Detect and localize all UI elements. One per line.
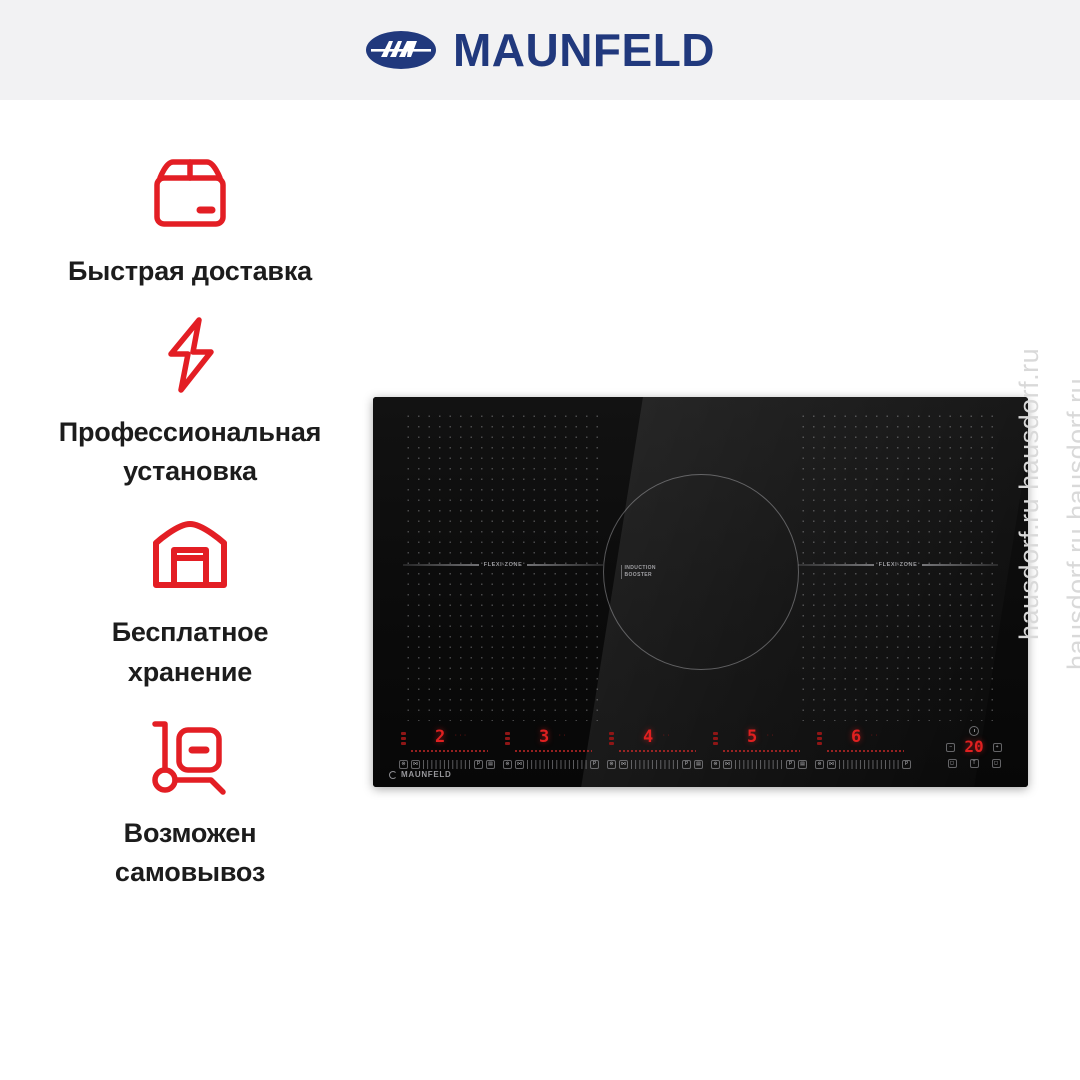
zone-level-digit: 3 xyxy=(539,729,549,746)
zone-control-3[interactable]: 4 ·· ⊜ ⋈ P ▤ xyxy=(603,729,707,773)
feature-label-installation: Профессиональнаяустановка xyxy=(0,413,380,491)
feature-item-pickup: Возможенсамовывоз xyxy=(0,712,380,892)
hand-truck-icon xyxy=(0,712,380,800)
zone-level-dots: ··· xyxy=(454,732,468,739)
page-root: MAUNFELD Быстрая доставка Профессиона xyxy=(0,0,1080,1080)
zone-level-dots: ·· xyxy=(870,732,879,739)
zone-level-bars-icon xyxy=(817,732,822,745)
pause-icon[interactable]: ⊜ xyxy=(503,760,512,769)
power-boost-icon[interactable]: P xyxy=(474,760,483,769)
booster-label-line1: INDUCTION xyxy=(625,565,656,572)
watermark-right-inner: hausdorf.ru hausdorf.ru xyxy=(1014,348,1045,640)
flexi-zone-right-label: FLEXI-ZONE xyxy=(879,562,918,568)
zone-progress-dots xyxy=(514,749,592,753)
timer-value: 20 xyxy=(964,739,983,755)
zone-control-4[interactable]: 5 ·· ⊜ ⋈ P ▤ xyxy=(707,729,811,773)
feature-label-pickup: Возможенсамовывоз xyxy=(0,814,380,892)
pause-icon[interactable]: ⊜ xyxy=(607,760,616,769)
flexi-zone-right: FLEXI-ZONE xyxy=(798,411,998,721)
induction-cooktop-image: FLEXI-ZONE FLEXI-ZONE INDUCTION BOOSTER xyxy=(373,397,1028,787)
power-boost-icon[interactable]: P xyxy=(682,760,691,769)
zone-slider[interactable]: ⊜ ⋈ P xyxy=(815,759,911,770)
feature-label-storage: Бесплатноехранение xyxy=(0,613,380,691)
watermark-right-outer: hausdorf.ru hausdorf.ru xyxy=(1062,378,1080,670)
maunfeld-oval-emblem-icon xyxy=(365,29,437,71)
cooktop-brand-text: MAUNFELD xyxy=(401,770,451,779)
zone-level-bars-icon xyxy=(401,732,406,745)
timer-controls[interactable]: − 20 + ◻ T ◻ xyxy=(934,725,1014,783)
brand-logo: MAUNFELD xyxy=(365,27,715,73)
zone-progress-dots xyxy=(618,749,696,753)
flexi-zone-right-divider: FLEXI-ZONE xyxy=(798,562,998,568)
flexi-zone-left-label: FLEXI-ZONE xyxy=(484,562,523,568)
timer-value-row: − 20 + xyxy=(934,739,1014,755)
timer-button-row: ◻ T ◻ xyxy=(934,759,1014,768)
zone-progress-dots xyxy=(722,749,800,753)
brand-wordmark: MAUNFELD xyxy=(453,27,715,73)
zone-level-dots: ·· xyxy=(558,732,567,739)
zone-level-dots: ·· xyxy=(766,732,775,739)
flexi-zone-left-divider: FLEXI-ZONE xyxy=(403,562,603,568)
zone-control-1[interactable]: 2 ··· ⊜ ⋈ P ▤ xyxy=(395,729,499,773)
divider-line-left xyxy=(798,564,874,566)
timer-button-1[interactable]: ◻ xyxy=(948,759,957,768)
zone-level-bars-icon xyxy=(609,732,614,745)
pause-icon[interactable]: ⊜ xyxy=(399,760,408,769)
zone-level-digit: 2 xyxy=(435,729,445,746)
slider-track[interactable] xyxy=(527,760,587,769)
booster-tick-mark xyxy=(621,565,622,579)
zone-slider[interactable]: ⊜ ⋈ P ▤ xyxy=(607,759,703,770)
warehouse-icon xyxy=(0,511,380,599)
slider-track[interactable] xyxy=(423,760,471,769)
cooking-zone-controls: 2 ··· ⊜ ⋈ P ▤ 3 ·· xyxy=(395,729,915,773)
timer-plus-button[interactable]: + xyxy=(993,743,1002,752)
power-boost-icon[interactable]: P xyxy=(902,760,911,769)
zone-progress-dots xyxy=(410,749,488,753)
lock-icon[interactable]: ▤ xyxy=(798,760,807,769)
pan-detect-icon[interactable]: ⋈ xyxy=(827,760,836,769)
feature-item-delivery: Быстрая доставка xyxy=(0,150,380,291)
slider-track[interactable] xyxy=(631,760,679,769)
zone-slider[interactable]: ⊜ ⋈ P xyxy=(503,759,599,770)
maunfeld-circle-icon xyxy=(389,771,397,779)
pan-detect-icon[interactable]: ⋈ xyxy=(515,760,524,769)
control-panel: 2 ··· ⊜ ⋈ P ▤ 3 ·· xyxy=(373,725,1028,787)
zone-control-2[interactable]: 3 ·· ⊜ ⋈ P xyxy=(499,729,603,773)
cooktop-brandmark: MAUNFELD xyxy=(389,770,451,779)
power-boost-icon[interactable]: P xyxy=(590,760,599,769)
zone-level-digit: 6 xyxy=(851,729,861,746)
feature-label-delivery: Быстрая доставка xyxy=(0,252,380,291)
pan-detect-icon[interactable]: ⋈ xyxy=(411,760,420,769)
slider-track[interactable] xyxy=(735,760,783,769)
power-boost-icon[interactable]: P xyxy=(786,760,795,769)
zone-level-dots: ·· xyxy=(662,732,671,739)
zone-slider[interactable]: ⊜ ⋈ P ▤ xyxy=(399,759,495,770)
features-list: Быстрая доставка Профессиональнаяустанов… xyxy=(0,150,380,912)
timer-button-2[interactable]: T xyxy=(970,759,979,768)
zone-level-digit: 4 xyxy=(643,729,653,746)
pan-detect-icon[interactable]: ⋈ xyxy=(723,760,732,769)
pause-icon[interactable]: ⊜ xyxy=(711,760,720,769)
zone-level-bars-icon xyxy=(713,732,718,745)
pause-icon[interactable]: ⊜ xyxy=(815,760,824,769)
lightning-bolt-icon xyxy=(0,311,380,399)
induction-booster-label: INDUCTION BOOSTER xyxy=(621,565,656,579)
lock-icon[interactable]: ▤ xyxy=(486,760,495,769)
lock-icon[interactable]: ▤ xyxy=(694,760,703,769)
zone-progress-dots xyxy=(826,749,904,753)
booster-label-line2: BOOSTER xyxy=(625,572,656,579)
zone-control-5[interactable]: 6 ·· ⊜ ⋈ P xyxy=(811,729,915,773)
feature-item-storage: Бесплатноехранение xyxy=(0,511,380,691)
divider-line-left xyxy=(403,564,479,566)
timer-minus-button[interactable]: − xyxy=(946,743,955,752)
timer-button-3[interactable]: ◻ xyxy=(992,759,1001,768)
divider-line-right xyxy=(922,564,998,566)
feature-item-installation: Профессиональнаяустановка xyxy=(0,311,380,491)
slider-track[interactable] xyxy=(839,760,899,769)
divider-line-right xyxy=(527,564,603,566)
zone-level-bars-icon xyxy=(505,732,510,745)
pan-detect-icon[interactable]: ⋈ xyxy=(619,760,628,769)
box-package-icon xyxy=(0,150,380,238)
zone-level-digit: 5 xyxy=(747,729,757,746)
zone-slider[interactable]: ⊜ ⋈ P ▤ xyxy=(711,759,807,770)
flexi-zone-left: FLEXI-ZONE xyxy=(403,411,603,721)
clock-icon xyxy=(969,726,979,736)
header-bar: MAUNFELD xyxy=(0,0,1080,100)
